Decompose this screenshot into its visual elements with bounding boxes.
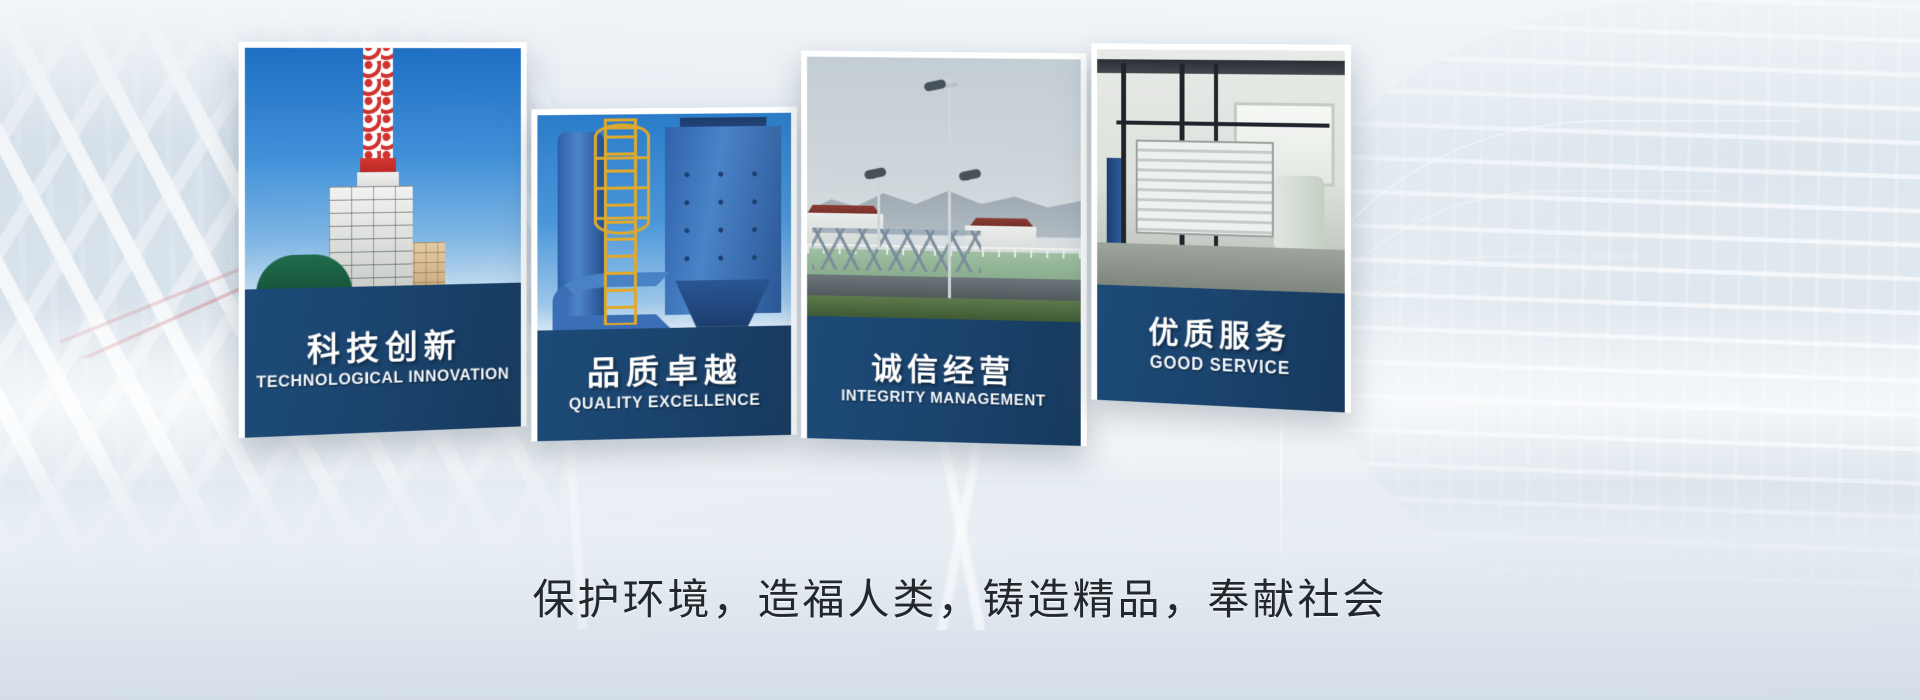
panel-title-cn: 优质服务 (1148, 316, 1291, 356)
panel-caption: 品质卓越 QUALITY EXCELLENCE (537, 325, 791, 441)
panel-caption: 优质服务 GOOD SERVICE (1097, 284, 1345, 412)
photo-element-chemical-tank (1274, 175, 1325, 249)
value-panel-good-service[interactable]: 优质服务 GOOD SERVICE (1091, 43, 1351, 412)
value-panel-integrity-management[interactable]: 诚信经营 INTEGRITY MANAGEMENT (801, 51, 1087, 447)
wastewater-treatment-plant-photo (807, 57, 1081, 323)
panel-caption: 诚信经营 INTEGRITY MANAGEMENT (807, 316, 1081, 446)
photo-element-ladder-cage (594, 123, 650, 235)
water-treatment-room-photo (1097, 49, 1345, 293)
photo-element-ro-membrane-rack (1136, 139, 1274, 237)
power-plant-smokestack-photo (245, 48, 521, 290)
panel-title-en: TECHNOLOGICAL INNOVATION (257, 364, 510, 393)
panel-title-en: QUALITY EXCELLENCE (569, 390, 761, 415)
panel-title-en: INTEGRITY MANAGEMENT (841, 387, 1046, 410)
photo-element-street-lamp-pole (948, 79, 951, 298)
panel-title-cn: 科技创新 (307, 328, 462, 369)
photo-element-bolt-array (670, 160, 776, 285)
photo-element-black-pipe (1121, 64, 1126, 271)
photo-element-patterned-chimney (363, 48, 393, 168)
photo-element-scraper-bridge (812, 228, 981, 273)
photo-element-street-lamp-pole (878, 172, 881, 250)
blue-dust-collector-photo (537, 113, 791, 331)
panel-caption: 科技创新 TECHNOLOGICAL INNOVATION (245, 283, 521, 438)
photo-element-ceiling-beam (1097, 59, 1345, 75)
hero-banner: 科技创新 TECHNOLOGICAL INNOVATION (0, 0, 1920, 700)
panel-title-cn: 品质卓越 (587, 352, 743, 392)
value-panel-technological-innovation[interactable]: 科技创新 TECHNOLOGICAL INNOVATION (239, 42, 527, 438)
panel-title-en: GOOD SERVICE (1149, 352, 1289, 379)
banner-tagline: 保护环境，造福人类，铸造精品，奉献社会 (0, 566, 1920, 627)
value-panel-quality-excellence[interactable]: 品质卓越 QUALITY EXCELLENCE (531, 107, 797, 442)
panel-title-cn: 诚信经营 (871, 352, 1015, 390)
